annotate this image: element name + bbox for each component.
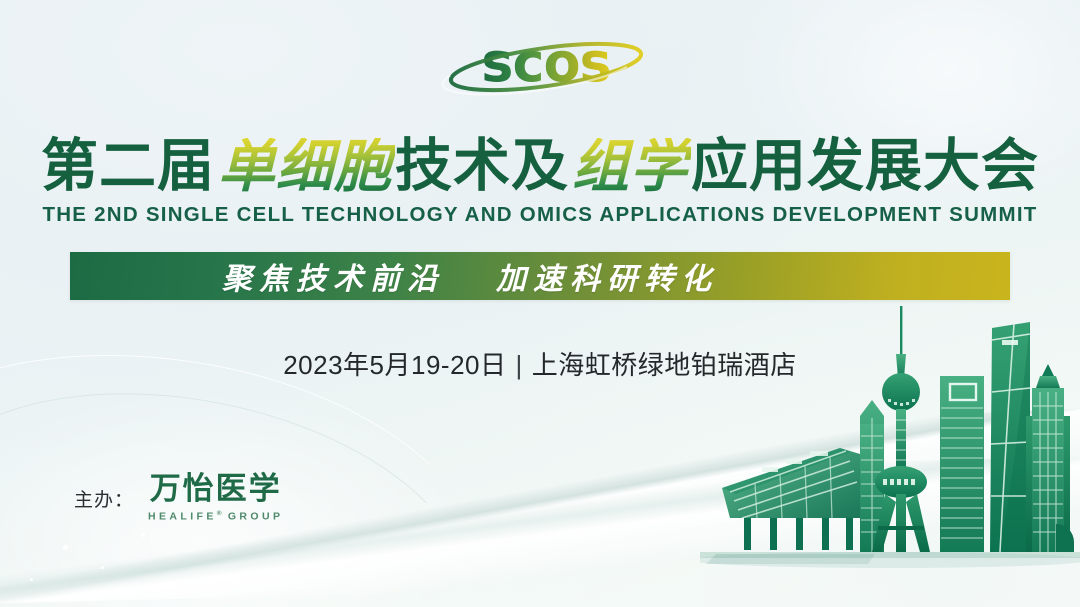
- title-segment-brush-2: 组学: [569, 138, 691, 195]
- title-segment-brush-1: 单细胞: [215, 138, 395, 195]
- shanghai-tower: [990, 322, 1030, 552]
- title-segment-solid-3: 应用发展大会: [691, 138, 1039, 195]
- background-sparkle: [30, 578, 33, 581]
- title-segment-solid-2: 技术及: [395, 138, 569, 195]
- organizer-name-cn: 万怡医学: [150, 474, 282, 505]
- organizer-en-suffix: GROUP: [228, 511, 284, 523]
- event-date: 2023年5月19-20日: [283, 350, 506, 380]
- shanghai-skyline-illustration: [700, 296, 1080, 586]
- separator: |: [507, 350, 532, 380]
- slogan-text-2: 加速科研转化: [496, 254, 718, 298]
- organizer-en-main: HEALIFE: [148, 511, 217, 523]
- background-sparkle: [63, 545, 68, 550]
- world-financial-center: [940, 376, 984, 552]
- title-segment-solid-1: 第二届: [41, 138, 215, 195]
- healife-logo: 万怡医学 HEALIFE® GROUP: [148, 474, 283, 522]
- organizer-block: 主办： 万怡医学 HEALIFE® GROUP: [74, 474, 283, 522]
- scos-logo: scos: [441, 26, 651, 100]
- conference-poster: scos 第二届 单细胞 技术及 组学 应用发展大会 THE 2ND SINGL…: [0, 0, 1080, 607]
- organizer-name-en: HEALIFE® GROUP: [148, 511, 283, 522]
- china-pavilion: [706, 448, 875, 564]
- slogan-text-1: 聚焦技术前沿: [222, 254, 444, 298]
- organizer-label: 主办：: [74, 485, 134, 512]
- background-sparkle: [141, 533, 145, 537]
- slogan-banner: 聚焦技术前沿 加速科研转化: [70, 252, 1010, 300]
- background-sparkle: [101, 566, 104, 569]
- poster-subtitle-english: THE 2ND SINGLE CELL TECHNOLOGY AND OMICS…: [0, 203, 1080, 227]
- art-deco-tower: [1026, 364, 1074, 552]
- poster-title: 第二届 单细胞 技术及 组学 应用发展大会: [0, 131, 1080, 201]
- registered-mark: ®: [217, 510, 222, 517]
